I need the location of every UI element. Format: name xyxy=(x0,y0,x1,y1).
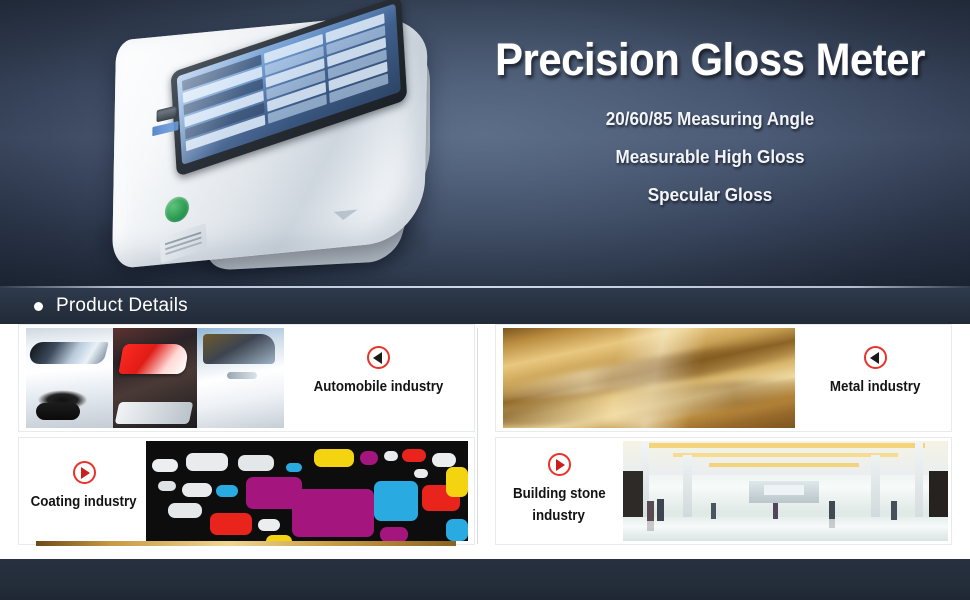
gold-accent-strip xyxy=(36,541,456,546)
details-column-right: Metal industry xyxy=(495,324,952,551)
hero-feature-2: Measurable High Gloss xyxy=(482,147,938,168)
device-screen xyxy=(177,3,401,165)
detail-label-building-stone-line1: Building stone xyxy=(513,483,606,505)
arrow-right-icon xyxy=(73,461,96,484)
hero-section: Precision Gloss Meter 20/60/85 Measuring… xyxy=(0,0,970,288)
detail-cell-metal[interactable]: Metal industry xyxy=(495,324,952,432)
hero-feature-3: Specular Gloss xyxy=(482,185,938,206)
automobile-photos xyxy=(26,328,284,428)
device-screen-bezel xyxy=(170,0,407,177)
details-grid: Automobile industry xyxy=(0,324,970,559)
device-green-badge xyxy=(164,194,190,226)
section-title: Product Details xyxy=(56,295,188,317)
device-spec-label xyxy=(160,223,207,263)
coating-caption: Coating industry xyxy=(22,461,146,513)
building-stone-caption: Building stone industry xyxy=(499,453,619,528)
footer-bar xyxy=(0,559,970,600)
detail-cell-coating[interactable]: Coating industry xyxy=(18,437,475,545)
detail-label-coating: Coating industry xyxy=(31,491,137,513)
column-divider xyxy=(477,328,478,544)
arrow-right-icon xyxy=(548,453,571,476)
coating-color-blocks xyxy=(146,441,468,541)
product-banner: Precision Gloss Meter 20/60/85 Measuring… xyxy=(0,0,970,600)
car-headlight-photo xyxy=(26,328,113,428)
device-chevron-icon xyxy=(331,210,357,222)
arrow-left-icon xyxy=(367,346,390,369)
detail-label-automobile: Automobile industry xyxy=(313,376,443,398)
hero-text-block: Precision Gloss Meter 20/60/85 Measuring… xyxy=(470,36,950,206)
detail-label-metal: Metal industry xyxy=(830,376,920,398)
gold-metal-texture xyxy=(503,328,795,428)
detail-cell-automobile[interactable]: Automobile industry xyxy=(18,324,475,432)
arrow-left-icon xyxy=(864,346,887,369)
product-details-bar: Product Details xyxy=(0,288,970,324)
gloss-meter-device xyxy=(62,8,462,286)
shopping-mall-interior xyxy=(623,441,948,541)
car-taillight-photo xyxy=(113,328,197,428)
hero-feature-list: 20/60/85 Measuring Angle Measurable High… xyxy=(470,109,950,206)
detail-label-building-stone-line2: industry xyxy=(533,505,586,527)
detail-cell-building-stone[interactable]: Building stone industry xyxy=(495,437,952,545)
metal-caption: Metal industry xyxy=(801,346,949,398)
hero-feature-1: 20/60/85 Measuring Angle xyxy=(482,109,938,130)
screen-glare xyxy=(177,3,401,165)
page-title: Precision Gloss Meter xyxy=(487,36,933,83)
details-column-left: Automobile industry xyxy=(18,324,475,551)
automobile-caption: Automobile industry xyxy=(290,346,466,398)
bullet-icon xyxy=(34,302,43,311)
device-body xyxy=(112,11,428,270)
car-door-mirror-photo xyxy=(197,328,284,428)
